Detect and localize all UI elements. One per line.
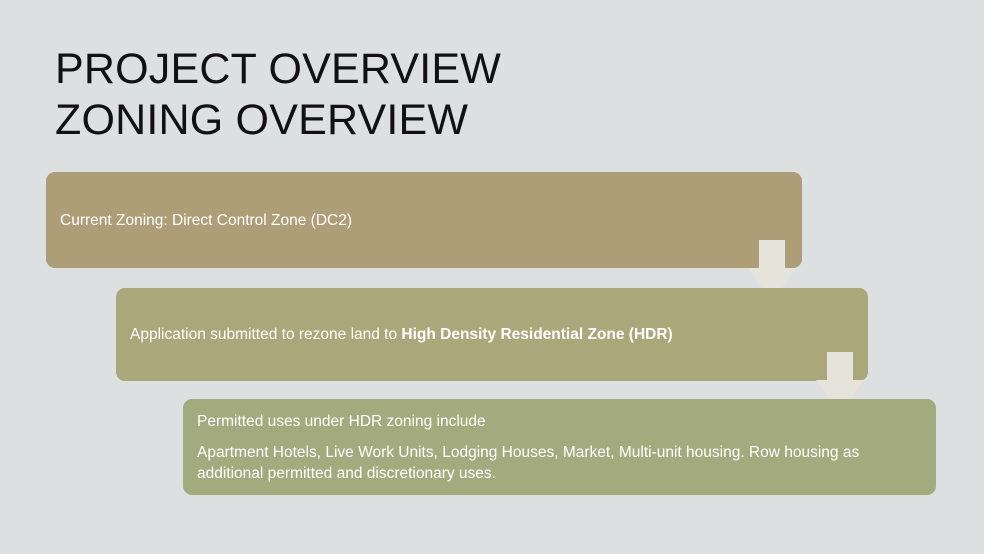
flow-step-permitted-uses-body: Permitted uses under HDR zoning include … [183,411,936,484]
flow-step-current-zoning-body: Current Zoning: Direct Control Zone (DC2… [46,210,802,231]
slide-canvas: PROJECT OVERVIEW ZONING OVERVIEW Current… [0,0,984,554]
flow-arrow-shaft [759,240,785,270]
flow-step-rezoning-application-text-bold: High Density Residential Zone (HDR) [401,326,672,343]
flow-step-rezoning-application-body: Application submitted to rezone land to … [116,324,868,345]
flow-step-current-zoning[interactable]: Current Zoning: Direct Control Zone (DC2… [46,172,802,268]
flow-step-rezoning-application-text: Application submitted to rezone land to … [130,324,852,345]
flow-step-current-zoning-text: Current Zoning: Direct Control Zone (DC2… [60,210,786,231]
flow-step-permitted-uses-detail: Apartment Hotels, Live Work Units, Lodgi… [197,442,920,484]
flow-step-permitted-uses[interactable]: Permitted uses under HDR zoning include … [183,399,936,495]
flow-step-permitted-uses-heading: Permitted uses under HDR zoning include [197,411,920,432]
flow-arrow-shaft [827,352,853,382]
flow-step-rezoning-application-text-regular: Application submitted to rezone land to [130,326,401,343]
process-flow-diagram: Current Zoning: Direct Control Zone (DC2… [0,0,984,554]
flow-step-rezoning-application[interactable]: Application submitted to rezone land to … [116,288,868,381]
